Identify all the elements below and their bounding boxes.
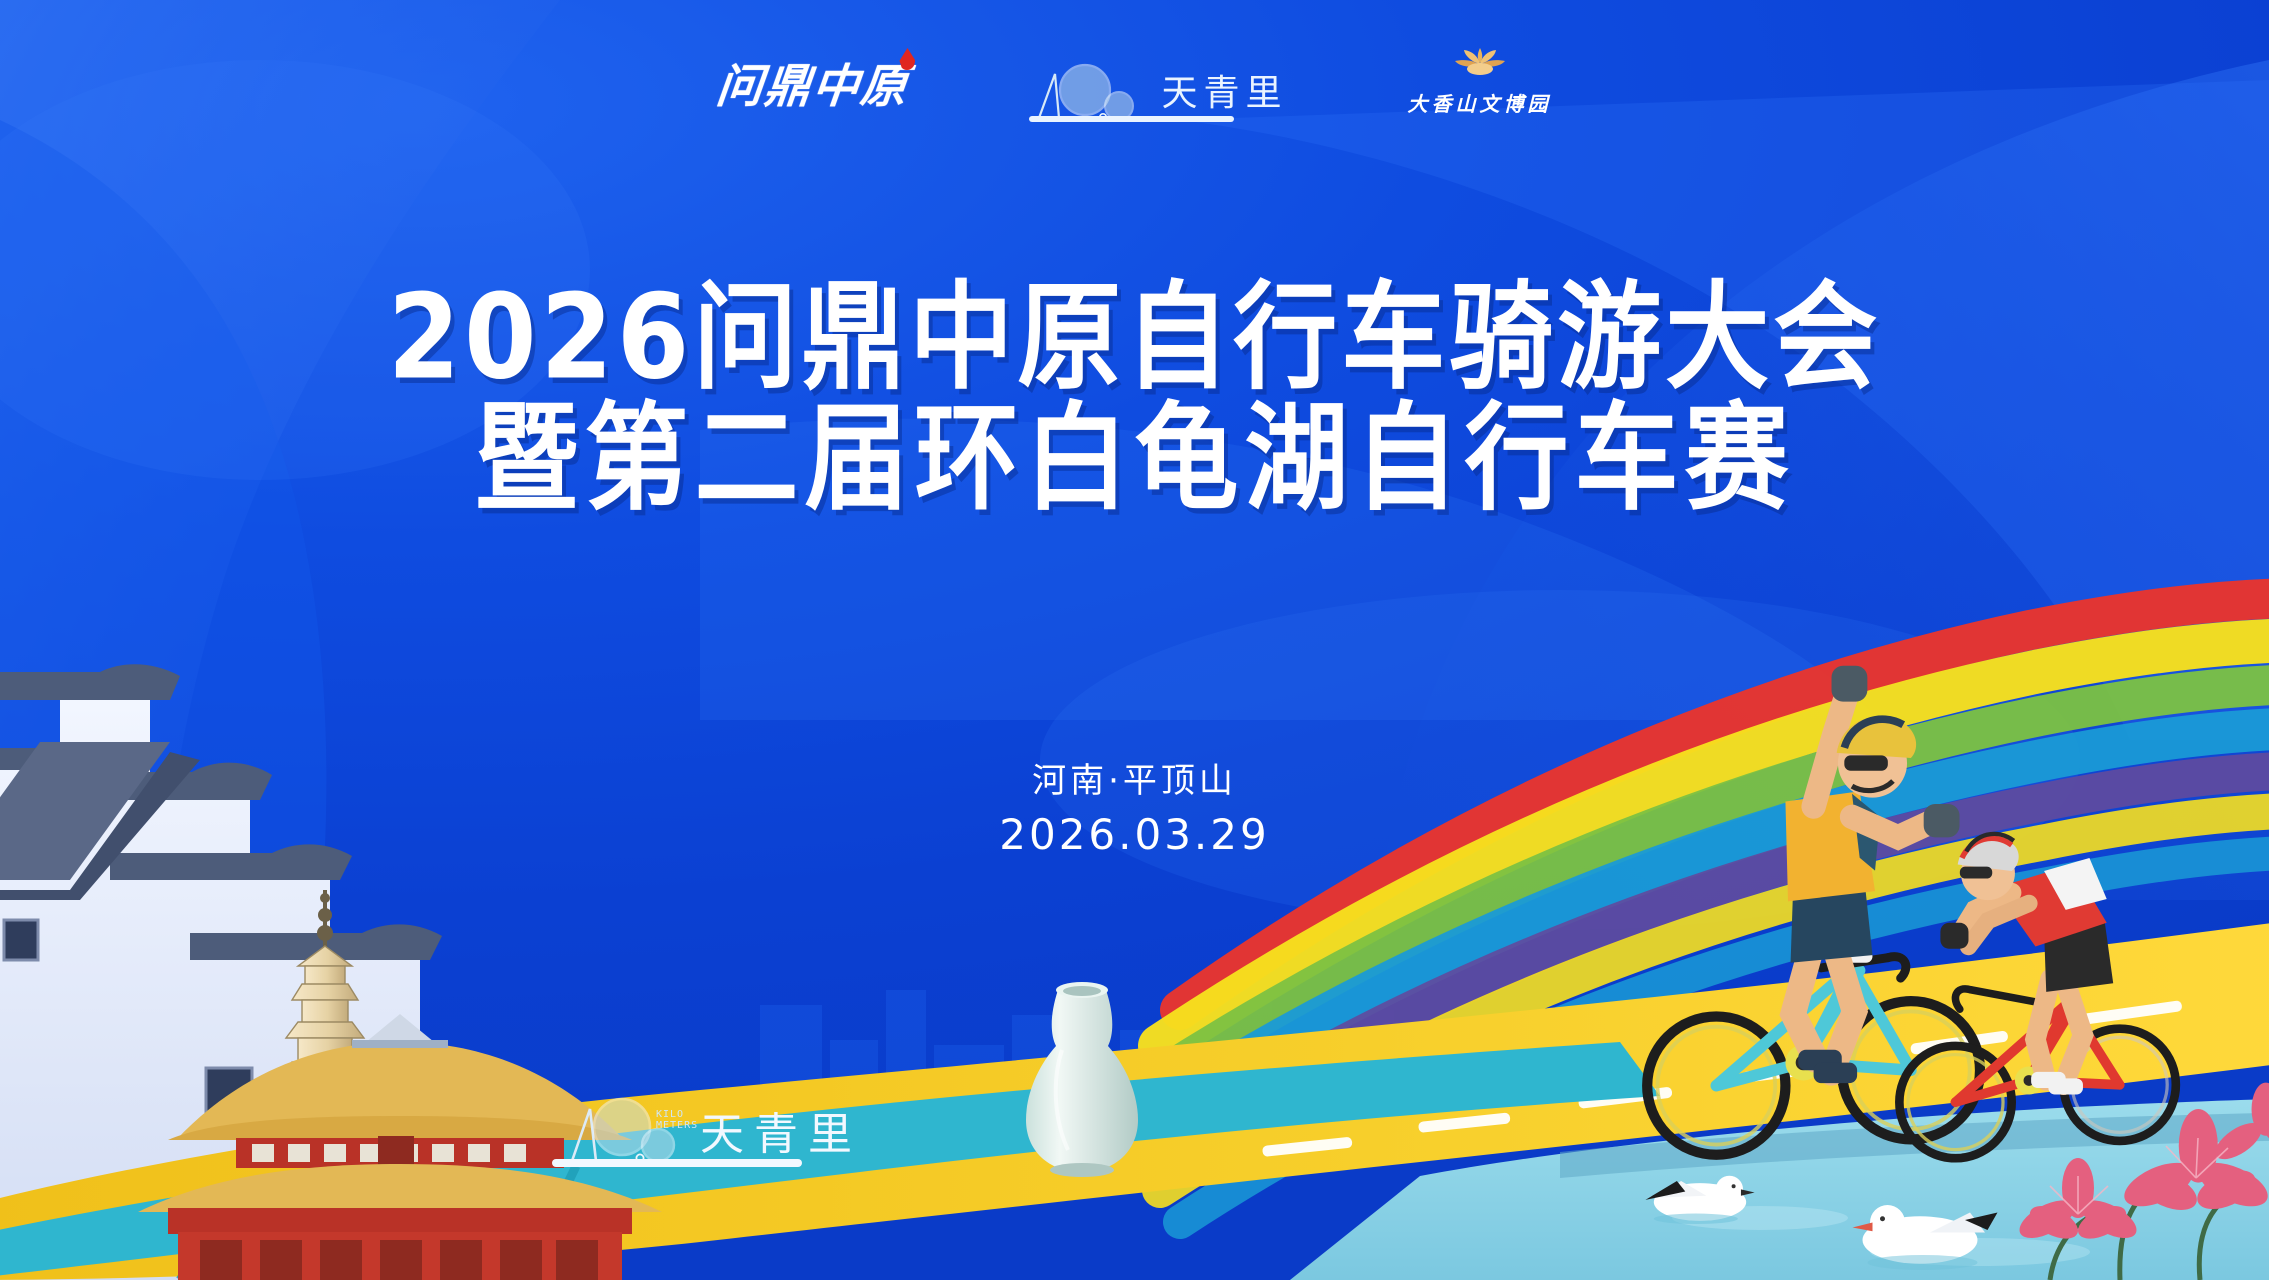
event-location: 河南·平顶山 xyxy=(0,756,2269,807)
logo-daxiangshan: 大香山文博园 xyxy=(1408,44,1552,117)
footer-tianqingli-text: 天青里 xyxy=(700,1113,862,1165)
subtitle-block: 河南·平顶山 2026.03.29 xyxy=(0,756,2269,864)
scenery-front-layer xyxy=(0,0,2269,1280)
title-line-1: 2026问鼎中原自行车骑游大会 xyxy=(0,270,2269,405)
main-title: 2026问鼎中原自行车骑游大会 暨第二届环白龟湖自行车赛 xyxy=(0,270,2269,511)
title-line-2: 暨第二届环白龟湖自行车赛 xyxy=(0,391,2269,526)
footer-tianqingli-mark: KILO METERS 天青里 xyxy=(560,1093,862,1165)
logo-wending-zhongyuan-text: 问鼎中原 xyxy=(714,50,913,116)
logo-tianqingli: 天青里 xyxy=(1029,44,1287,122)
kilometers-caption: KILO METERS xyxy=(656,1109,698,1131)
footer-mark-baseline xyxy=(552,1159,802,1167)
logo-daxiangshan-text: 大香山文博园 xyxy=(1408,88,1552,117)
celadon-vase xyxy=(1026,982,1138,1177)
tianqingli-mark-icon xyxy=(1029,58,1151,122)
logo-wending-zhongyuan: 问鼎中原 xyxy=(717,44,909,122)
tianqingli-mark-icon-footer: KILO METERS xyxy=(560,1093,688,1165)
poster-canvas: 问鼎中原 天青里 xyxy=(0,0,2269,1280)
sponsor-logo-row: 问鼎中原 天青里 xyxy=(0,44,2269,122)
lotus-icon xyxy=(1452,44,1508,84)
event-date: 2026.03.29 xyxy=(0,807,2269,864)
tianqingli-baseline xyxy=(1029,116,1234,122)
